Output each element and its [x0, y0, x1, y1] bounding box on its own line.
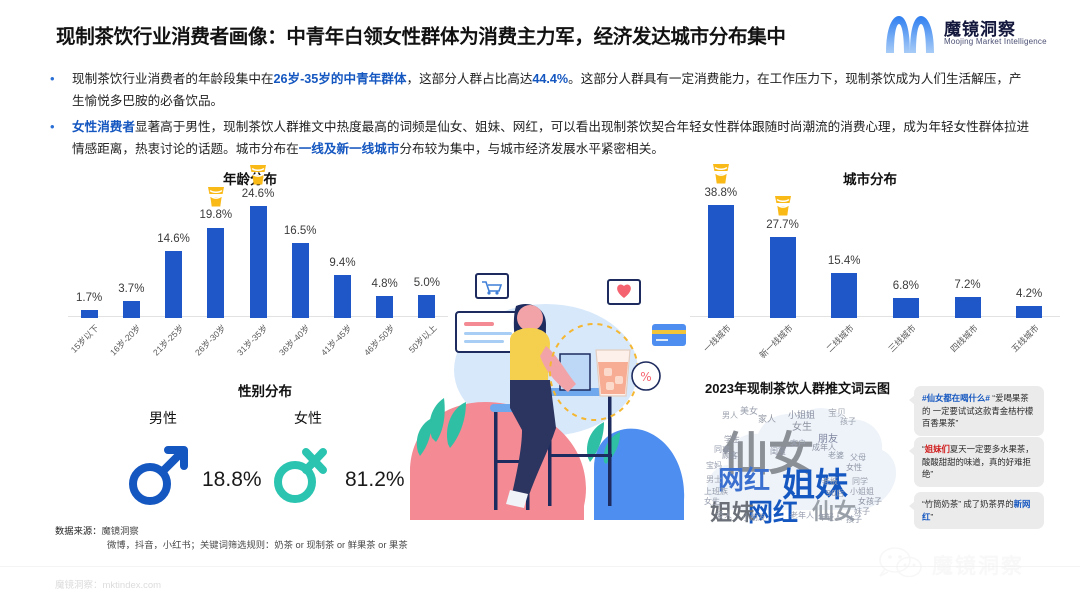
bar — [292, 243, 309, 318]
wordcloud-word: 闺蜜 — [770, 446, 786, 457]
wechat-watermark: 魔镜洞察 — [876, 546, 1056, 586]
bar-column — [165, 190, 182, 318]
bar-value-label: 14.6% — [139, 233, 209, 245]
wordcloud-word: 爱人 — [716, 510, 732, 521]
quote-zhutong: “竹筒奶茶” 成了奶茶界的新网红” — [914, 492, 1044, 529]
wordcloud-word: 小姐姐 — [788, 408, 815, 421]
milk-tea-cup-icon — [249, 164, 267, 186]
male-percentage: 18.8% — [202, 468, 262, 492]
x-axis-tick-label: 26岁-30岁 — [189, 322, 229, 362]
x-axis-tick-label: 新一线城市 — [755, 322, 795, 362]
page-title: 现制茶饮行业消费者画像：中青年白领女性群体为消费主力军，经济发达城市分布集中 — [56, 20, 786, 49]
wordcloud-word: 宝妈 — [706, 460, 722, 471]
wordcloud-word: 成年人 — [812, 442, 836, 453]
wechat-brand-name: 魔镜洞察 — [932, 550, 1024, 580]
bar — [334, 275, 351, 318]
source-value: 魔镜洞察 — [102, 526, 139, 536]
bar-value-label: 38.8% — [686, 187, 756, 199]
bar-value-label: 15.4% — [809, 255, 879, 267]
female-label: 女性 — [263, 408, 353, 428]
moojing-m-logo-icon — [882, 12, 938, 54]
wordcloud-word: 父母 — [850, 452, 866, 463]
city-distribution-chart: 38.8%27.7%15.4%6.8%7.2%4.2% — [690, 188, 1060, 318]
x-axis-tick-label: 二线城市 — [817, 322, 857, 362]
x-axis-tick-label: 15岁以下 — [62, 322, 102, 362]
bullet-point-gender: • 女性消费者显著高于男性，现制茶饮人群推文中热度最高的词频是仙女、姐妹、网红，… — [72, 116, 1037, 160]
x-axis-tick-label: 36岁-40岁 — [273, 322, 313, 362]
wordcloud-word: 男人 — [722, 410, 738, 421]
bar-value-label: 27.7% — [748, 219, 818, 231]
bar-value-label: 4.2% — [994, 288, 1064, 300]
bar-value-label: 6.8% — [871, 280, 941, 292]
bar-column — [292, 190, 309, 318]
bullet-marker: • — [50, 116, 55, 138]
wordcloud-word: 顾客 — [722, 450, 738, 461]
cart-icon-card — [476, 274, 508, 298]
percent-badge: % — [632, 362, 660, 390]
x-axis-tick-label: 21岁-25岁 — [146, 322, 186, 362]
x-axis-tick-label: 46岁-50岁 — [358, 322, 398, 362]
female-percentage: 81.2% — [345, 468, 405, 492]
x-axis-tick-label: 四线城市 — [940, 322, 980, 362]
chart-baseline — [690, 316, 1060, 317]
quote-jiemei: “姐妹们夏天一定要多水果茶，酸酸甜甜的味道，真的好难拒绝” — [914, 437, 1044, 487]
wordcloud-word: 小朋友 — [742, 512, 766, 523]
bar-column — [708, 190, 734, 318]
bar-column — [893, 190, 919, 318]
quote-text: #仙女都在喝什么# “爱喝果茶的 一定要试试这款青金桔柠檬百香果茶” — [922, 393, 1033, 428]
wordcloud-word: 老板 — [822, 476, 838, 487]
wordcloud-word: 90后 — [826, 488, 844, 499]
x-axis-tick-label: 16岁-20岁 — [104, 322, 144, 362]
wordcloud-word: 家人 — [758, 412, 776, 425]
x-axis-tick-label: 41岁-45岁 — [315, 322, 355, 362]
brand-name-en: Moojing Market Intelligence — [944, 37, 1047, 46]
gender-chart-title: 性别分布 — [165, 380, 365, 400]
iced-tea-glass — [596, 350, 630, 396]
bar — [1016, 306, 1042, 318]
credit-card-icon — [652, 324, 686, 346]
male-label: 男性 — [118, 408, 208, 428]
quote-text: “姐妹们夏天一定要多水果茶，酸酸甜甜的味道，真的好难拒绝” — [922, 444, 1034, 479]
wordcloud-word: 孩子 — [846, 514, 862, 525]
svg-text:%: % — [640, 370, 651, 384]
bar-column — [955, 190, 981, 318]
male-symbol-icon — [122, 438, 194, 510]
bar-value-label: 9.4% — [307, 257, 377, 269]
bar-value-label: 3.7% — [96, 283, 166, 295]
heart-icon-card — [608, 280, 640, 304]
bar — [123, 301, 140, 318]
bar-column — [376, 190, 393, 318]
wechat-icon — [876, 546, 926, 580]
consumer-illustration: % — [398, 262, 698, 520]
x-axis-tick-label: 三线城市 — [879, 322, 919, 362]
bar — [376, 296, 393, 318]
wordcloud-word: 男士 — [706, 474, 722, 485]
bullet-text: 现制茶饮行业消费者的年龄段集中在26岁-35岁的中青年群体，这部分人群占比高达4… — [72, 72, 1022, 108]
city-chart-title: 城市分布 — [760, 168, 980, 188]
female-symbol-icon — [265, 438, 337, 510]
x-axis-tick-label: 五线城市 — [1002, 322, 1042, 362]
x-axis-tick-label: 31岁-35岁 — [231, 322, 271, 362]
age-distribution-chart: 1.7%3.7%14.6%19.8%24.6%16.5%9.4%4.8%5.0% — [68, 188, 448, 318]
wordcloud-title: 2023年现制茶饮人群推文词云图 — [690, 378, 905, 397]
source-label: 数据来源： — [55, 526, 102, 536]
bar-column — [334, 190, 351, 318]
bar — [165, 251, 182, 318]
milk-tea-cup-icon — [712, 163, 730, 185]
bar — [770, 237, 796, 318]
bar — [955, 297, 981, 318]
wordcloud-word: 女生 — [704, 496, 720, 507]
wordcloud-word: 女性 — [846, 462, 862, 473]
site-watermark: 魔镜洞察：mktindex.com — [55, 577, 161, 591]
bar-value-label: 16.5% — [265, 225, 335, 237]
quote-text: “竹筒奶茶” 成了奶茶界的新网红” — [922, 499, 1030, 522]
source-detail: 微博，抖音，小红书；关键词筛选规则：奶茶 or 现制茶 or 鲜果茶 or 果茶 — [55, 538, 408, 552]
bullet-text: 女性消费者显著高于男性，现制茶饮人群推文中热度最高的词频是仙女、姐妹、网红，可以… — [72, 120, 1029, 156]
wordcloud-word: 美女 — [740, 404, 758, 417]
bar — [81, 310, 98, 318]
x-axis-tick-label: 一线城市 — [694, 322, 734, 362]
data-source: 数据来源：魔镜洞察 微博，抖音，小红书；关键词筛选规则：奶茶 or 现制茶 or… — [55, 524, 408, 552]
wordcloud: 仙女姐妹网红网红姐妹仙女女生朋友美女宝贝家人小姐姐孩子男人学生同事顾客客户老婆男… — [700, 398, 900, 526]
wordcloud-word: 客户 — [790, 438, 806, 449]
bar-value-label: 7.2% — [933, 279, 1003, 291]
wordcloud-word: 孩子 — [840, 416, 856, 427]
quote-xiannv: #仙女都在喝什么# “爱喝果茶的 一定要试试这款青金桔柠檬百香果茶” — [914, 386, 1044, 436]
bar — [708, 205, 734, 318]
wordcloud-word: 年轻人 — [818, 512, 842, 523]
bar-value-label: 19.8% — [181, 209, 251, 221]
page-header: 现制茶饮行业消费者画像：中青年白领女性群体为消费主力军，经济发达城市分布集中 魔… — [0, 0, 1080, 62]
bar — [893, 298, 919, 318]
bar-value-label: 24.6% — [223, 188, 293, 200]
bar-column — [123, 190, 140, 318]
bar-column — [250, 190, 267, 318]
illustration-blue-shape — [594, 429, 684, 520]
wordcloud-word: 老年人 — [790, 510, 814, 521]
bar — [207, 228, 224, 319]
bar — [831, 273, 857, 318]
bullet-marker: • — [50, 68, 55, 90]
bullet-point-age: • 现制茶饮行业消费者的年龄段集中在26岁-35岁的中青年群体，这部分人群占比高… — [72, 68, 1022, 112]
face — [517, 305, 543, 331]
bar-column — [831, 190, 857, 318]
brand-logo: 魔镜洞察 Moojing Market Intelligence — [882, 10, 1066, 56]
milk-tea-cup-icon — [774, 195, 792, 217]
bar — [250, 206, 267, 318]
